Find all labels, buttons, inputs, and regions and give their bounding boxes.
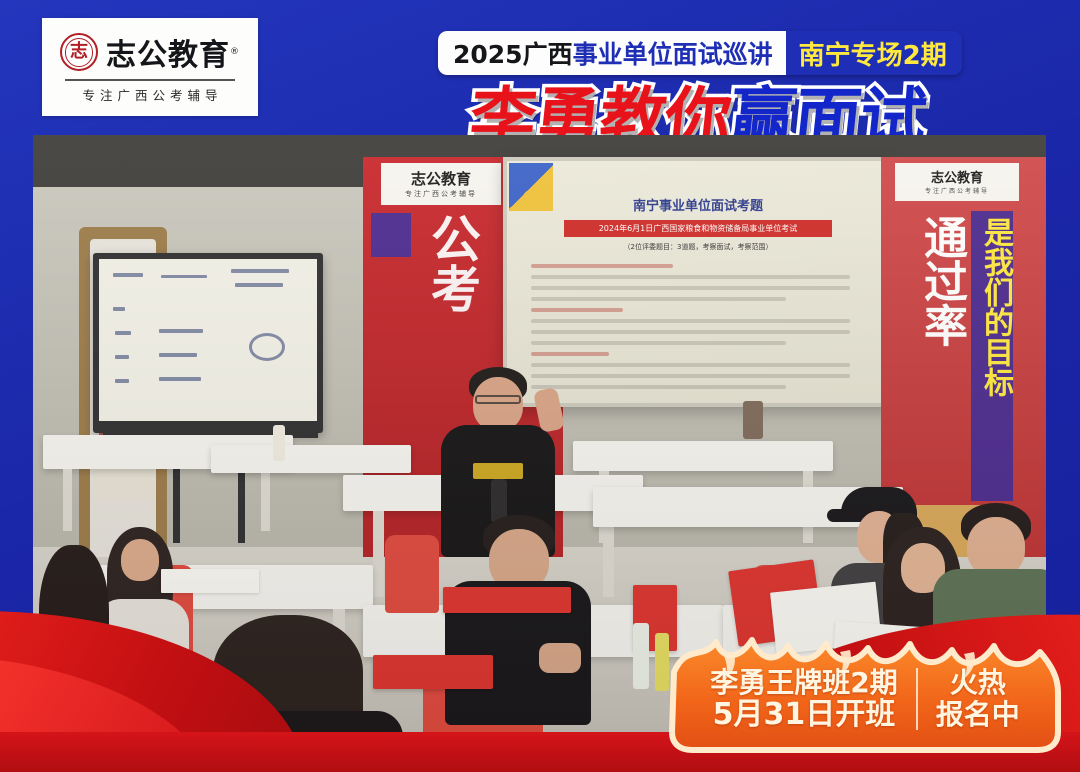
left-wall-logo-name: 志公教育 [381,163,501,189]
enrollment-status-2: 报名中 [936,699,1020,731]
right-wall-logo-name: 志公教育 [895,163,1019,186]
whiteboard-surface [99,259,317,421]
brand-logo-main: 志 志公教育® [54,30,246,74]
registered-mark: ® [230,47,240,57]
event-header-white-part: 2025广西 事业单位面试巡讲 [438,31,786,75]
brand-logo-card: 志 志公教育® 专注广西公考辅导 [42,18,258,116]
enrollment-status-1: 火热 [936,667,1020,699]
left-wall-vertical-text: 公考 [405,213,475,313]
table-back-mid [211,445,411,473]
bottle-back [273,425,285,461]
session-badge: 南宁专场2期 [786,31,962,75]
banner-divider [916,668,918,730]
enrollment-banner-text: 李勇王牌班2期 5月31日开班 火热 报名中 [664,626,1066,754]
slide-title: 南宁事业单位面试考题 [521,195,875,214]
slide-corner-graphic [509,163,553,211]
brand-seal-icon: 志 [60,33,98,71]
enrollment-left-block: 李勇王牌班2期 5月31日开班 [710,667,897,732]
course-start-date: 5月31日开班 [710,698,897,732]
water-bottle [633,623,649,689]
poster-root: 志 志公教育® 专注广西公考辅导 2025广西 事业单位面试巡讲 南宁专场2期 … [0,0,1080,772]
left-wall-logo: 志公教育 专注广西公考辅导 [381,163,501,205]
right-wall-logo-tagline: 专注广西公考辅导 [895,186,1019,195]
table-right-back [573,441,833,471]
event-year-region: 2025广西 [453,35,573,71]
brand-tagline: 专注广西公考辅导 [77,85,222,104]
event-header-pill: 2025广西 事业单位面试巡讲 南宁专场2期 [438,31,962,75]
slide-red-bar: 2024年6月1日广西国家粮食和物资储备局事业单位考试 [564,220,832,237]
right-wall-yellow-text: 是我们的目标 [973,217,1011,397]
student-center [443,515,593,725]
course-name: 李勇王牌班2期 [710,667,897,698]
event-name: 事业单位面试巡讲 [573,35,773,71]
logo-divider [65,79,235,80]
brand-name: 志公教育® [106,30,240,74]
enrollment-right-block: 火热 报名中 [936,667,1020,731]
right-wall-logo: 志公教育 专注广西公考辅导 [895,163,1019,201]
session-badge-label: 南宁专场2期 [799,35,947,72]
chair-center-back [385,535,439,613]
seal-char: 志 [70,43,88,61]
right-wall-white-text: 通过率 [901,215,963,347]
enrollment-banner[interactable]: 李勇王牌班2期 5月31日开班 火热 报名中 [664,626,1066,754]
paper-left [161,569,259,593]
slide-subtitle: （2位评委题目：3道题，考察面试，考察范围） [521,242,875,252]
red-folder-center [443,587,571,613]
red-folder-front [373,655,493,689]
cup-back [743,401,763,439]
left-wall-logo-tagline: 专注广西公考辅导 [381,189,501,199]
